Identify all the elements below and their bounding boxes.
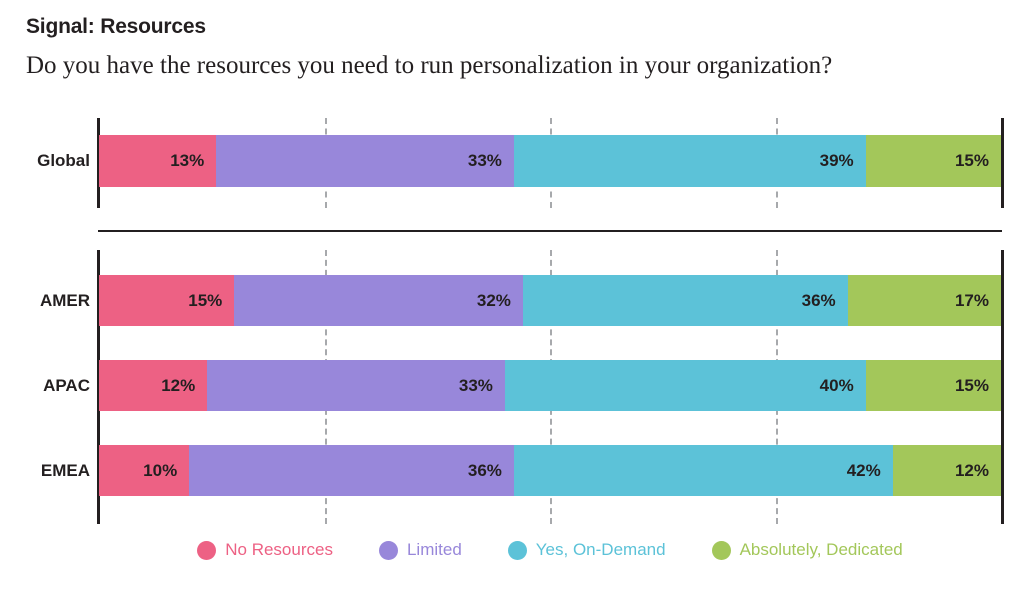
bar-segment[interactable]: 15%: [866, 360, 1001, 411]
group-separator-line: [98, 230, 1002, 232]
bar-segment-value: 15%: [188, 291, 222, 311]
bar-segment[interactable]: 42%: [514, 445, 893, 496]
bar-segment-value: 36%: [802, 291, 836, 311]
chart-legend: No ResourcesLimitedYes, On-DemandAbsolut…: [99, 540, 1001, 560]
bar-track-apac: 12%33%40%15%: [99, 360, 1001, 411]
bar-segment[interactable]: 10%: [99, 445, 189, 496]
row-label-global: Global: [0, 151, 90, 171]
legend-item-label: Absolutely, Dedicated: [740, 540, 903, 560]
bar-segment-value: 33%: [468, 151, 502, 171]
bar-row-emea: EMEA10%36%42%12%: [0, 445, 1024, 496]
bar-segment-value: 10%: [143, 461, 177, 481]
legend-item[interactable]: No Resources: [197, 540, 333, 560]
bar-segment-value: 13%: [170, 151, 204, 171]
legend-swatch-icon: [379, 541, 398, 560]
bar-track-global: 13%33%39%15%: [99, 135, 1001, 187]
legend-item[interactable]: Absolutely, Dedicated: [712, 540, 903, 560]
plot-area: Global13%33%39%15%AMER15%32%36%17%APAC12…: [0, 0, 1024, 595]
legend-item-label: Yes, On-Demand: [536, 540, 666, 560]
bar-segment-value: 39%: [820, 151, 854, 171]
bar-segment-value: 42%: [847, 461, 881, 481]
bar-segment[interactable]: 17%: [848, 275, 1001, 326]
legend-swatch-icon: [508, 541, 527, 560]
legend-item[interactable]: Yes, On-Demand: [508, 540, 666, 560]
bar-segment[interactable]: 15%: [866, 135, 1001, 187]
bar-row-apac: APAC12%33%40%15%: [0, 360, 1024, 411]
bar-segment[interactable]: 40%: [505, 360, 866, 411]
bar-segment[interactable]: 39%: [514, 135, 866, 187]
bar-segment-value: 40%: [820, 376, 854, 396]
row-label-emea: EMEA: [0, 461, 90, 481]
bar-segment[interactable]: 12%: [99, 360, 207, 411]
bar-segment-value: 36%: [468, 461, 502, 481]
bar-segment[interactable]: 12%: [893, 445, 1001, 496]
bar-segment-value: 17%: [955, 291, 989, 311]
bar-segment-value: 33%: [459, 376, 493, 396]
bar-track-emea: 10%36%42%12%: [99, 445, 1001, 496]
bar-segment-value: 12%: [955, 461, 989, 481]
bar-segment[interactable]: 13%: [99, 135, 216, 187]
bar-row-amer: AMER15%32%36%17%: [0, 275, 1024, 326]
legend-swatch-icon: [712, 541, 731, 560]
bar-segment[interactable]: 32%: [234, 275, 523, 326]
row-label-apac: APAC: [0, 376, 90, 396]
bar-segment[interactable]: 33%: [216, 135, 514, 187]
legend-item-label: Limited: [407, 540, 462, 560]
bar-segment[interactable]: 15%: [99, 275, 234, 326]
legend-swatch-icon: [197, 541, 216, 560]
row-label-amer: AMER: [0, 291, 90, 311]
bar-segment-value: 15%: [955, 376, 989, 396]
bar-track-amer: 15%32%36%17%: [99, 275, 1001, 326]
bar-segment[interactable]: 36%: [189, 445, 514, 496]
bar-segment-value: 32%: [477, 291, 511, 311]
bar-row-global: Global13%33%39%15%: [0, 135, 1024, 187]
legend-item-label: No Resources: [225, 540, 333, 560]
bar-segment-value: 12%: [161, 376, 195, 396]
bar-segment-value: 15%: [955, 151, 989, 171]
bar-segment[interactable]: 33%: [207, 360, 505, 411]
bar-segment[interactable]: 36%: [523, 275, 848, 326]
legend-item[interactable]: Limited: [379, 540, 462, 560]
